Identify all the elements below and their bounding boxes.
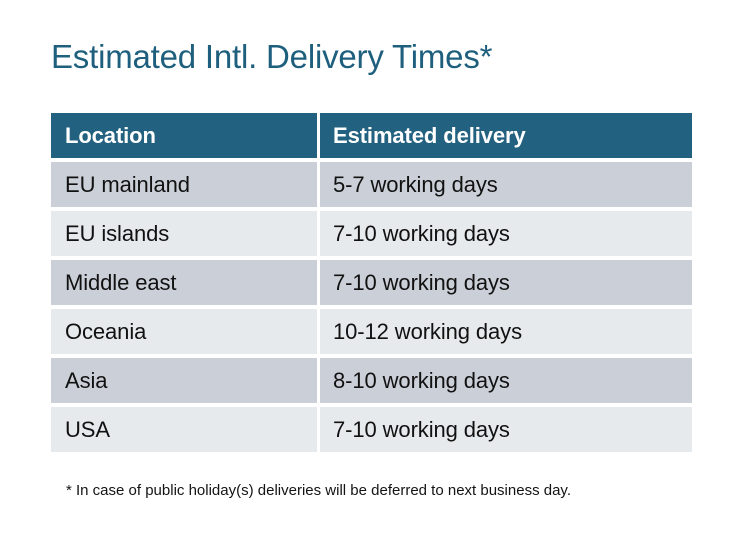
table-cell-estimated-delivery: 7-10 working days xyxy=(320,407,692,452)
column-header-estimated-delivery: Estimated delivery xyxy=(333,123,526,149)
table-cell-estimated-delivery: 7-10 working days xyxy=(320,211,692,256)
table-cell-estimated-delivery: 5-7 working days xyxy=(320,162,692,207)
table-cell-location: Oceania xyxy=(51,309,317,354)
table-header-cell-estimated-delivery: Estimated delivery xyxy=(320,113,692,158)
table-cell-estimated-delivery: 10-12 working days xyxy=(320,309,692,354)
cell-estimated-delivery-value: 5-7 working days xyxy=(333,172,498,198)
table-cell-location: USA xyxy=(51,407,317,452)
cell-estimated-delivery-value: 8-10 working days xyxy=(333,368,510,394)
table-row: EU islands 7-10 working days xyxy=(51,211,692,256)
cell-location-value: EU islands xyxy=(65,221,169,247)
table-row: EU mainland 5-7 working days xyxy=(51,162,692,207)
cell-location-value: USA xyxy=(65,417,110,443)
table-cell-location: Asia xyxy=(51,358,317,403)
table-cell-location: Middle east xyxy=(51,260,317,305)
table-cell-location: EU islands xyxy=(51,211,317,256)
table-row: Middle east 7-10 working days xyxy=(51,260,692,305)
column-header-location: Location xyxy=(65,123,156,149)
delivery-times-table: Location Estimated delivery EU mainland … xyxy=(51,113,692,452)
table-row: Oceania 10-12 working days xyxy=(51,309,692,354)
cell-location-value: Asia xyxy=(65,368,107,394)
footnote-text: * In case of public holiday(s) deliverie… xyxy=(66,481,571,501)
table-row: Asia 8-10 working days xyxy=(51,358,692,403)
cell-estimated-delivery-value: 7-10 working days xyxy=(333,221,510,247)
table-cell-estimated-delivery: 8-10 working days xyxy=(320,358,692,403)
cell-estimated-delivery-value: 7-10 working days xyxy=(333,270,510,296)
page-title: Estimated Intl. Delivery Times* xyxy=(51,36,492,78)
table-header-row: Location Estimated delivery xyxy=(51,113,692,158)
table-cell-location: EU mainland xyxy=(51,162,317,207)
cell-location-value: Middle east xyxy=(65,270,176,296)
cell-location-value: EU mainland xyxy=(65,172,190,198)
table-cell-estimated-delivery: 7-10 working days xyxy=(320,260,692,305)
cell-estimated-delivery-value: 7-10 working days xyxy=(333,417,510,443)
cell-estimated-delivery-value: 10-12 working days xyxy=(333,319,522,345)
table-header-cell-location: Location xyxy=(51,113,317,158)
table-row: USA 7-10 working days xyxy=(51,407,692,452)
delivery-times-page: Estimated Intl. Delivery Times* Location… xyxy=(0,0,745,536)
cell-location-value: Oceania xyxy=(65,319,146,345)
